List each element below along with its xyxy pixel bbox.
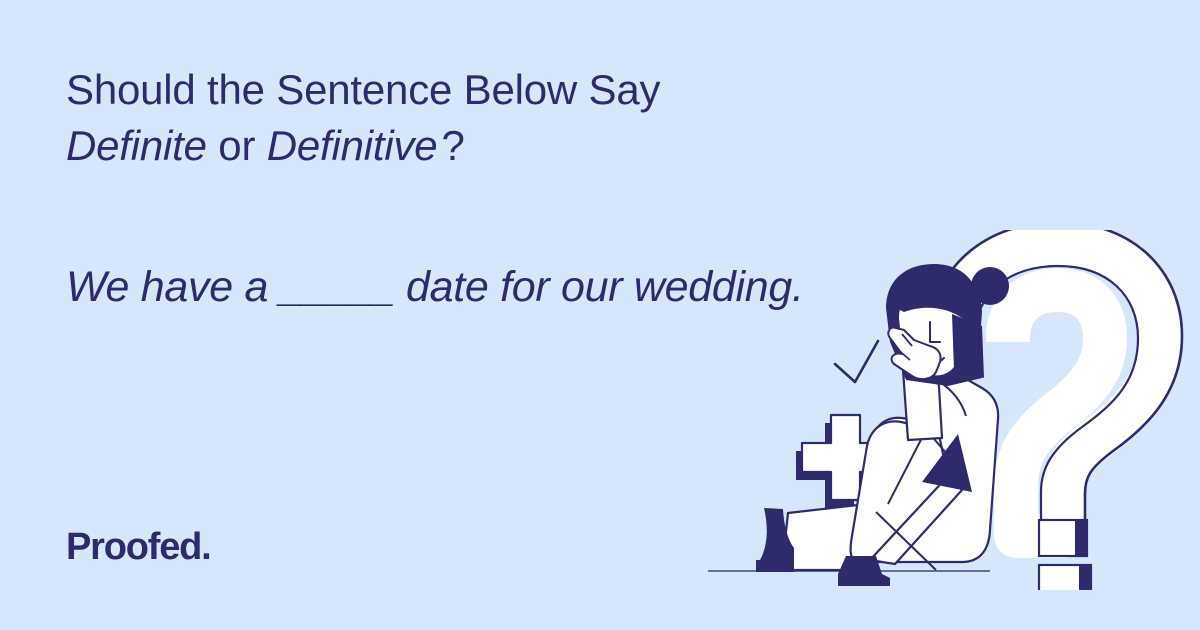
sentence-blank: _____ bbox=[280, 263, 395, 311]
term-definite: Definite bbox=[66, 122, 207, 169]
checkmark-icon bbox=[835, 341, 878, 382]
hair-bun-dot bbox=[971, 267, 1009, 305]
headline-block: Should the Sentence Below Say Definite o… bbox=[66, 62, 966, 174]
term-definitive: Definitive bbox=[267, 122, 438, 169]
sentence-before-blank: We have a bbox=[66, 263, 280, 311]
seated-woman-figure bbox=[838, 264, 1009, 586]
headline-conjunction: or bbox=[207, 122, 267, 169]
illustration-thinking-woman bbox=[690, 230, 1200, 590]
headline-line-2: Definite or Definitive? bbox=[66, 118, 966, 174]
question-mark-punctuation: ? bbox=[437, 122, 464, 169]
headline-line-1: Should the Sentence Below Say bbox=[66, 62, 966, 118]
social-share-card: Should the Sentence Below Say Definite o… bbox=[0, 0, 1200, 630]
proofed-logo[interactable]: Proofed. bbox=[66, 524, 211, 570]
